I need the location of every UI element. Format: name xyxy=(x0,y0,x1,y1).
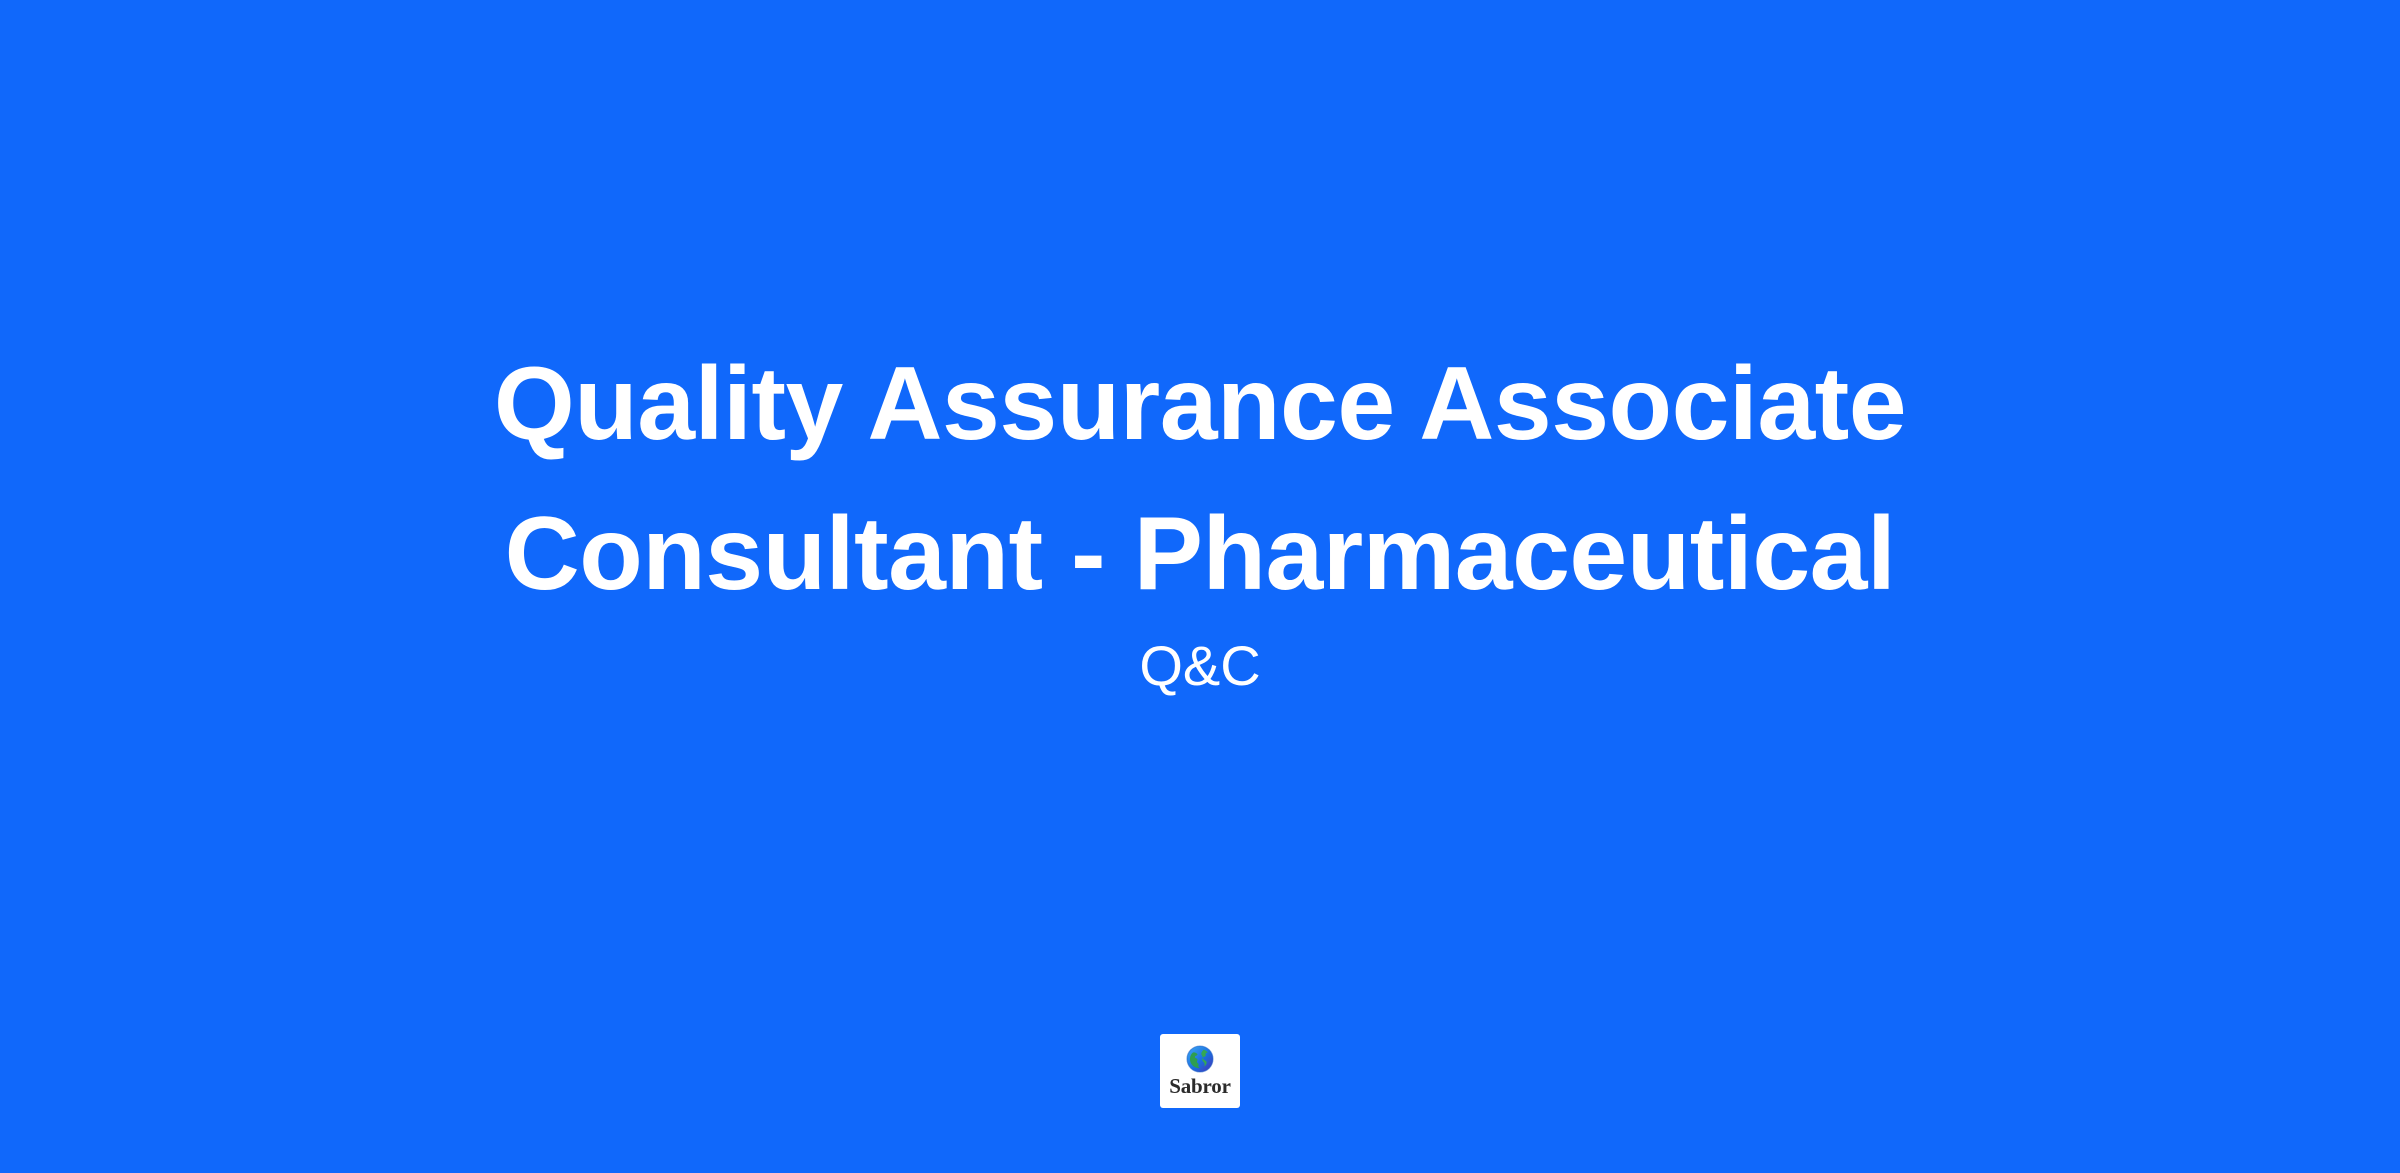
page-subtitle: Q&C xyxy=(400,630,2000,703)
page-title: Quality Assurance Associate Consultant -… xyxy=(400,330,2000,630)
brand-logo[interactable]: Sabror xyxy=(1160,1034,1240,1108)
job-share-card: Quality Assurance Associate Consultant -… xyxy=(0,0,2400,1173)
globe-icon xyxy=(1184,1043,1216,1075)
hero-text-block: Quality Assurance Associate Consultant -… xyxy=(0,330,2400,702)
brand-wordmark: Sabror xyxy=(1169,1075,1230,1098)
